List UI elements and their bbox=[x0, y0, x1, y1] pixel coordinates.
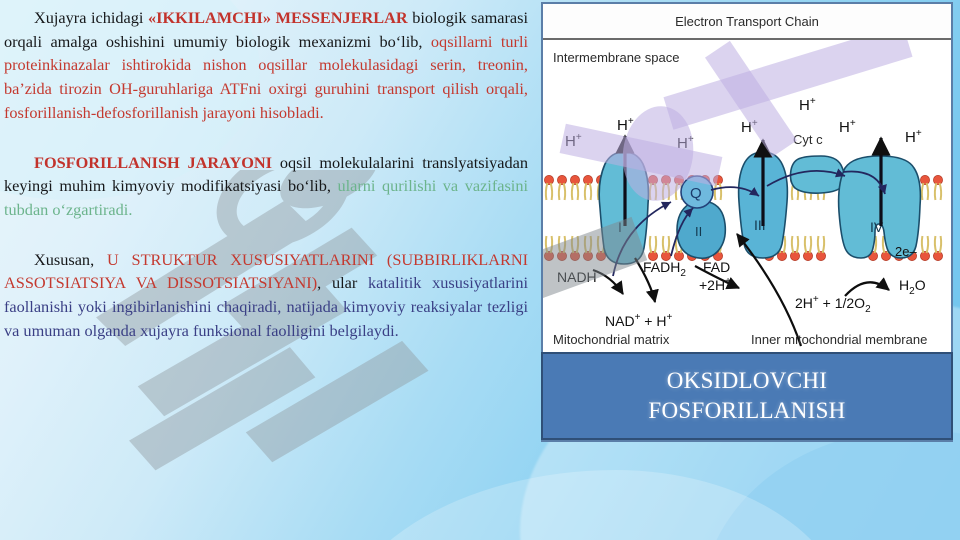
cytochrome-c: Cyt c bbox=[791, 132, 845, 193]
etc-figure-title: Electron Transport Chain bbox=[675, 14, 819, 29]
ubiquinone-label: Q bbox=[690, 185, 702, 202]
proton-label-1: H+ bbox=[565, 132, 582, 150]
label-o2-substrate: 2H+ + 1/2O2 bbox=[795, 294, 871, 315]
label-fadh2: FADH2 bbox=[643, 259, 686, 279]
caption-box: OKSIDLOVCHI FOSFORILLANISH bbox=[541, 352, 953, 440]
paragraph-1: Xujayra ichidagi «IKKILAMCHI» MESSENJERL… bbox=[4, 6, 528, 125]
body-text-column: Xujayra ichidagi «IKKILAMCHI» MESSENJERL… bbox=[0, 0, 536, 540]
p2-run-1-emphasis: FOSFORILLANISH JARAYONI bbox=[34, 153, 272, 172]
arrow-o2-to-water bbox=[845, 282, 889, 296]
proton-label-6: H+ bbox=[839, 118, 856, 136]
label-water: H2O bbox=[899, 277, 926, 297]
ubiquinone-Q: Q bbox=[681, 176, 713, 208]
proton-label-5: H+ bbox=[799, 96, 816, 114]
caption-line-2: FOSFORILLANISH bbox=[648, 396, 845, 426]
label-nad-plus-h: NAD+ + H+ bbox=[605, 312, 672, 329]
label-nadh: NADH bbox=[557, 269, 597, 285]
label-fad-2h: +2H+ bbox=[699, 276, 731, 293]
label-two-electrons: 2e– bbox=[895, 244, 917, 259]
proton-label-7: H+ bbox=[905, 128, 922, 146]
cyt-c-label: Cyt c bbox=[793, 132, 823, 147]
slide-canvas: Xujayra ichidagi «IKKILAMCHI» MESSENJERL… bbox=[0, 0, 960, 540]
p3-run-1: Xususan, bbox=[34, 250, 107, 269]
proton-label-2: H+ bbox=[617, 116, 634, 134]
complex-II: II bbox=[677, 200, 725, 258]
etc-figure-header: Electron Transport Chain bbox=[543, 4, 951, 40]
label-inner-mitochondrial-membrane: Inner mitochondrial membrane bbox=[751, 332, 927, 347]
etc-diagram-svg: Intermembrane space H+ H+ H+ H+ H+ H+ H+ bbox=[543, 40, 951, 356]
proton-label-3: H+ bbox=[677, 134, 694, 152]
p1-run-2-emphasis: «IKKILAMCHI» MESSENJERLAR bbox=[148, 8, 408, 27]
caption-line-1: OKSIDLOVCHI bbox=[667, 366, 827, 396]
arrow-nadh-in bbox=[593, 270, 623, 294]
label-fad: FAD bbox=[703, 259, 730, 275]
complex-I-label: I bbox=[618, 219, 622, 235]
proton-label-4: H+ bbox=[741, 118, 758, 136]
background-blob-bottomright bbox=[700, 430, 960, 540]
etc-diagram: Intermembrane space H+ H+ H+ H+ H+ H+ H+ bbox=[543, 40, 951, 356]
label-intermembrane-space: Intermembrane space bbox=[553, 50, 679, 65]
p1-run-1: Xujayra ichidagi bbox=[34, 8, 148, 27]
label-mitochondrial-matrix: Mitochondrial matrix bbox=[553, 332, 670, 347]
p3-run-3: , ular bbox=[317, 273, 368, 292]
paragraph-3: Xususan, U STRUKTUR XUSUSIYATLARINI (SUB… bbox=[4, 248, 528, 343]
paragraph-2: FOSFORILLANISH JARAYONI oqsil molekulala… bbox=[4, 151, 528, 222]
complex-II-label: II bbox=[695, 224, 702, 239]
